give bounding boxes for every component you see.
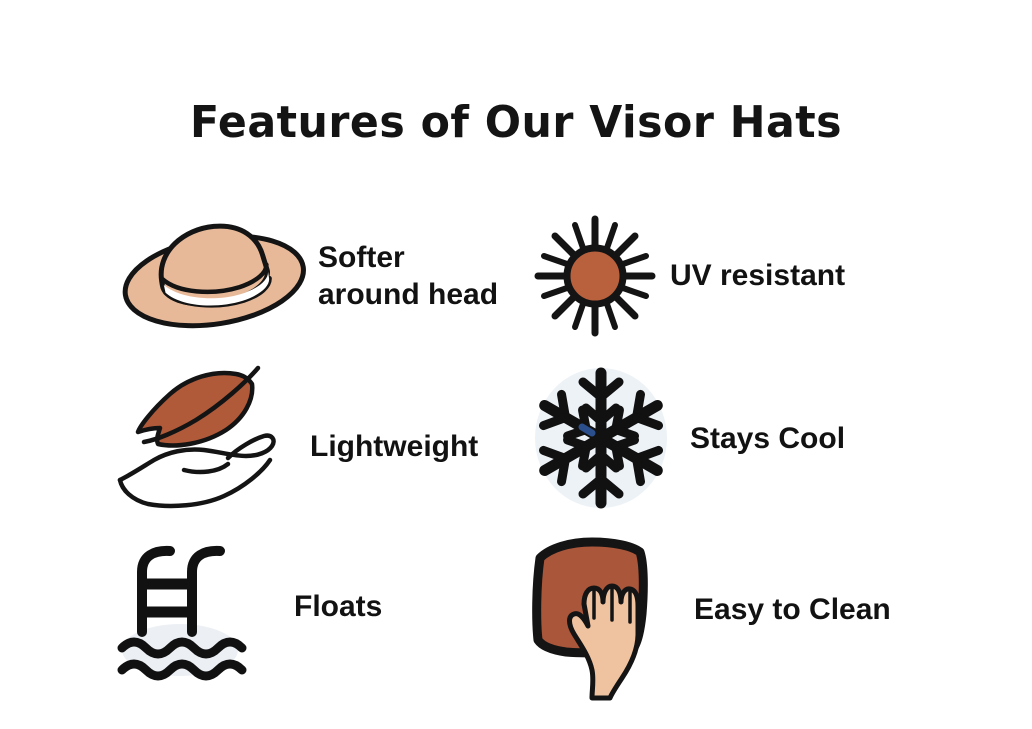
feature-label: UV resistant (670, 258, 845, 295)
sun-icon (526, 207, 664, 345)
feature-row: Lightweight (0, 358, 1032, 518)
feature-label: Easy to Clean (694, 592, 891, 629)
snowflake-icon (526, 363, 676, 513)
page-title: Features of Our Visor Hats (15, 97, 1016, 148)
feature-label: Floats (294, 589, 382, 626)
sun-hat-icon (118, 217, 310, 335)
features-grid: Softer around head (0, 196, 1032, 716)
leaf-on-hand-icon (118, 368, 300, 508)
feature-row: Softer around head (0, 196, 1032, 356)
feature-label: Stays Cool (690, 421, 845, 458)
pool-ladder-icon (118, 540, 268, 690)
feature-item-easy-to-clean[interactable]: Easy to Clean (516, 520, 1032, 710)
hand-wiping-cloth-icon (526, 530, 678, 700)
feature-item-softer-around-head[interactable]: Softer around head (0, 196, 516, 356)
feature-label: Lightweight (310, 429, 478, 466)
feature-label: Softer around head (318, 240, 498, 313)
feature-item-uv-resistant[interactable]: UV resistant (516, 196, 1032, 356)
feature-item-lightweight[interactable]: Lightweight (0, 358, 516, 518)
feature-item-floats[interactable]: Floats (0, 520, 516, 710)
feature-item-stays-cool[interactable]: Stays Cool (516, 358, 1032, 518)
feature-row: Floats Easy to Clean (0, 520, 1032, 710)
